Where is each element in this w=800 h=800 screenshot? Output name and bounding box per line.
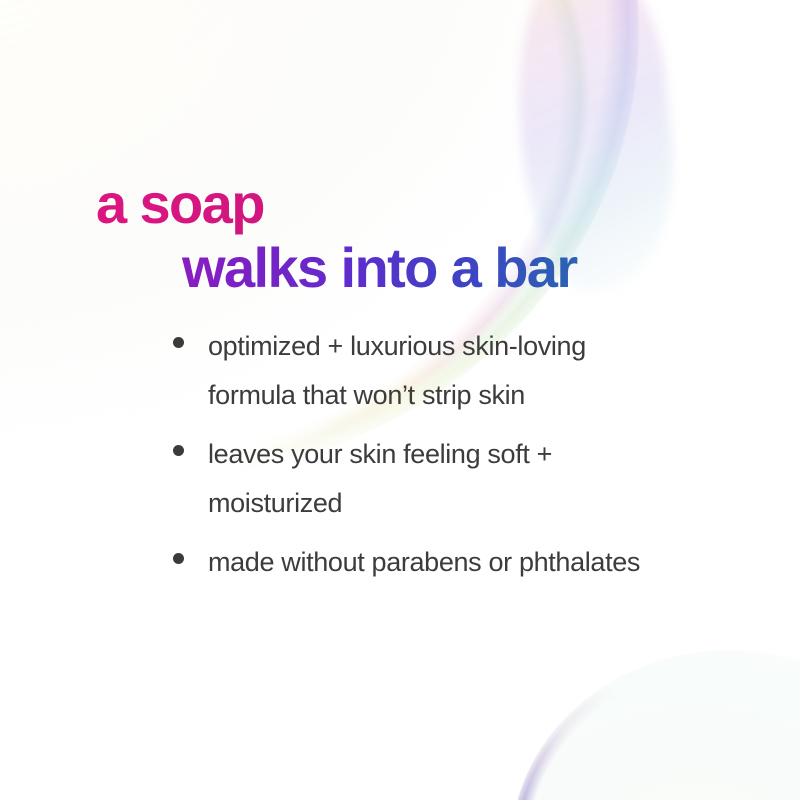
bullet-dot-icon (173, 445, 184, 456)
benefits-list: optimized + luxurious skin-loving formul… (170, 322, 650, 597)
list-item: optimized + luxurious skin-loving formul… (170, 322, 650, 420)
list-item: leaves your skin feeling soft + moisturi… (170, 430, 650, 528)
list-item-label: optimized + luxurious skin-loving formul… (208, 322, 650, 420)
list-item-label: made without parabens or phthalates (208, 538, 650, 587)
headline: a soap walks into a bar (96, 172, 756, 300)
bullet-dot-icon (173, 337, 184, 348)
bullet-dot-icon (173, 553, 184, 564)
poster-canvas: a soap walks into a bar optimized + luxu… (0, 0, 800, 800)
list-item-label: leaves your skin feeling soft + moisturi… (208, 430, 650, 528)
content-layer: a soap walks into a bar optimized + luxu… (0, 0, 800, 800)
headline-line-2: walks into a bar (182, 236, 756, 300)
headline-line-1: a soap (96, 172, 756, 236)
list-item: made without parabens or phthalates (170, 538, 650, 587)
